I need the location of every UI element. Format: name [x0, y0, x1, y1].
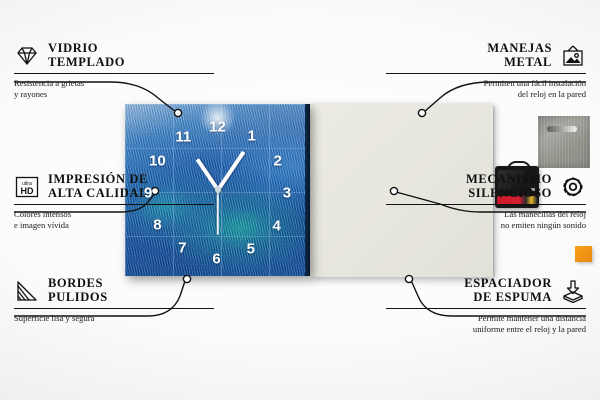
svg-text:HD: HD: [21, 186, 34, 196]
foam-spacer-icon: [560, 279, 586, 303]
hands-center-cap: [215, 187, 221, 193]
feature-description: Las manecillas del reloj no emiten ningú…: [386, 209, 586, 231]
glass-edge: [305, 104, 310, 276]
infographic-canvas: 12 1 2 3 4 5 6 7 8 9 10 11: [0, 0, 600, 400]
clock-numeral: 12: [209, 120, 226, 135]
gear-icon: [560, 175, 586, 199]
hanger-texture: [538, 116, 590, 168]
feature-rule: [14, 73, 214, 74]
feature-rule: [386, 204, 586, 205]
feature-description: Permite mantener una distancia uniforme …: [386, 313, 586, 335]
picture-hanger-icon: [560, 44, 586, 68]
metal-hanger-plate: [538, 116, 590, 168]
clock-numeral: 5: [247, 242, 255, 257]
clock-numeral: 2: [273, 153, 281, 168]
feature-title: BORDES PULIDOS: [48, 277, 108, 304]
feature-title: MECANISMO SILENCIOSO: [466, 173, 552, 200]
feature-espaciador-espuma: ESPACIADOR DE ESPUMA Permite mantener un…: [386, 277, 586, 335]
clock-numeral: 4: [273, 219, 281, 234]
feature-manejas-metal: MANEJAS METAL Permiten una fácil instala…: [386, 42, 586, 100]
clock-numeral: 3: [283, 186, 291, 201]
minute-hand: [216, 151, 245, 191]
feature-bordes-pulidos: BORDES PULIDOS Superficie lisa y segura: [14, 277, 214, 324]
clock-numeral: 7: [178, 241, 186, 256]
clock-numeral: 6: [212, 251, 220, 266]
clock-numeral: 10: [149, 153, 166, 168]
clock-dial: 12 1 2 3 4 5 6 7 8 9 10 11: [125, 104, 310, 276]
clock-front-panel: 12 1 2 3 4 5 6 7 8 9 10 11: [125, 104, 310, 276]
feature-rule: [14, 308, 214, 309]
feature-description: Permiten una fácil instalación del reloj…: [386, 78, 586, 100]
feature-rule: [386, 308, 586, 309]
feature-description: Resistencia a grietas y rayones: [14, 78, 214, 100]
polished-edge-icon: [14, 279, 40, 303]
clock-numeral: 8: [153, 218, 161, 233]
hanger-slot: [547, 126, 577, 132]
feature-title: VIDRIO TEMPLADO: [48, 42, 125, 69]
second-hand: [217, 190, 219, 235]
diamond-icon: [14, 44, 40, 68]
feature-mecanismo-silencioso: MECANISMO SILENCIOSO Las manecillas del …: [386, 173, 586, 231]
clock-numeral: 1: [248, 128, 256, 143]
feature-title: MANEJAS METAL: [487, 42, 552, 69]
feature-vidrio-templado: VIDRIO TEMPLADO Resistencia a grietas y …: [14, 42, 214, 100]
feature-rule: [386, 73, 586, 74]
hour-hand: [195, 158, 219, 191]
feature-description: Superficie lisa y segura: [14, 313, 214, 324]
clock-numeral: 9: [144, 186, 152, 201]
clock-numeral: 11: [175, 129, 191, 144]
feature-title: ESPACIADOR DE ESPUMA: [464, 277, 552, 304]
foam-spacer-pad: [575, 246, 592, 262]
ultra-hd-icon: ultra HD: [14, 175, 40, 199]
